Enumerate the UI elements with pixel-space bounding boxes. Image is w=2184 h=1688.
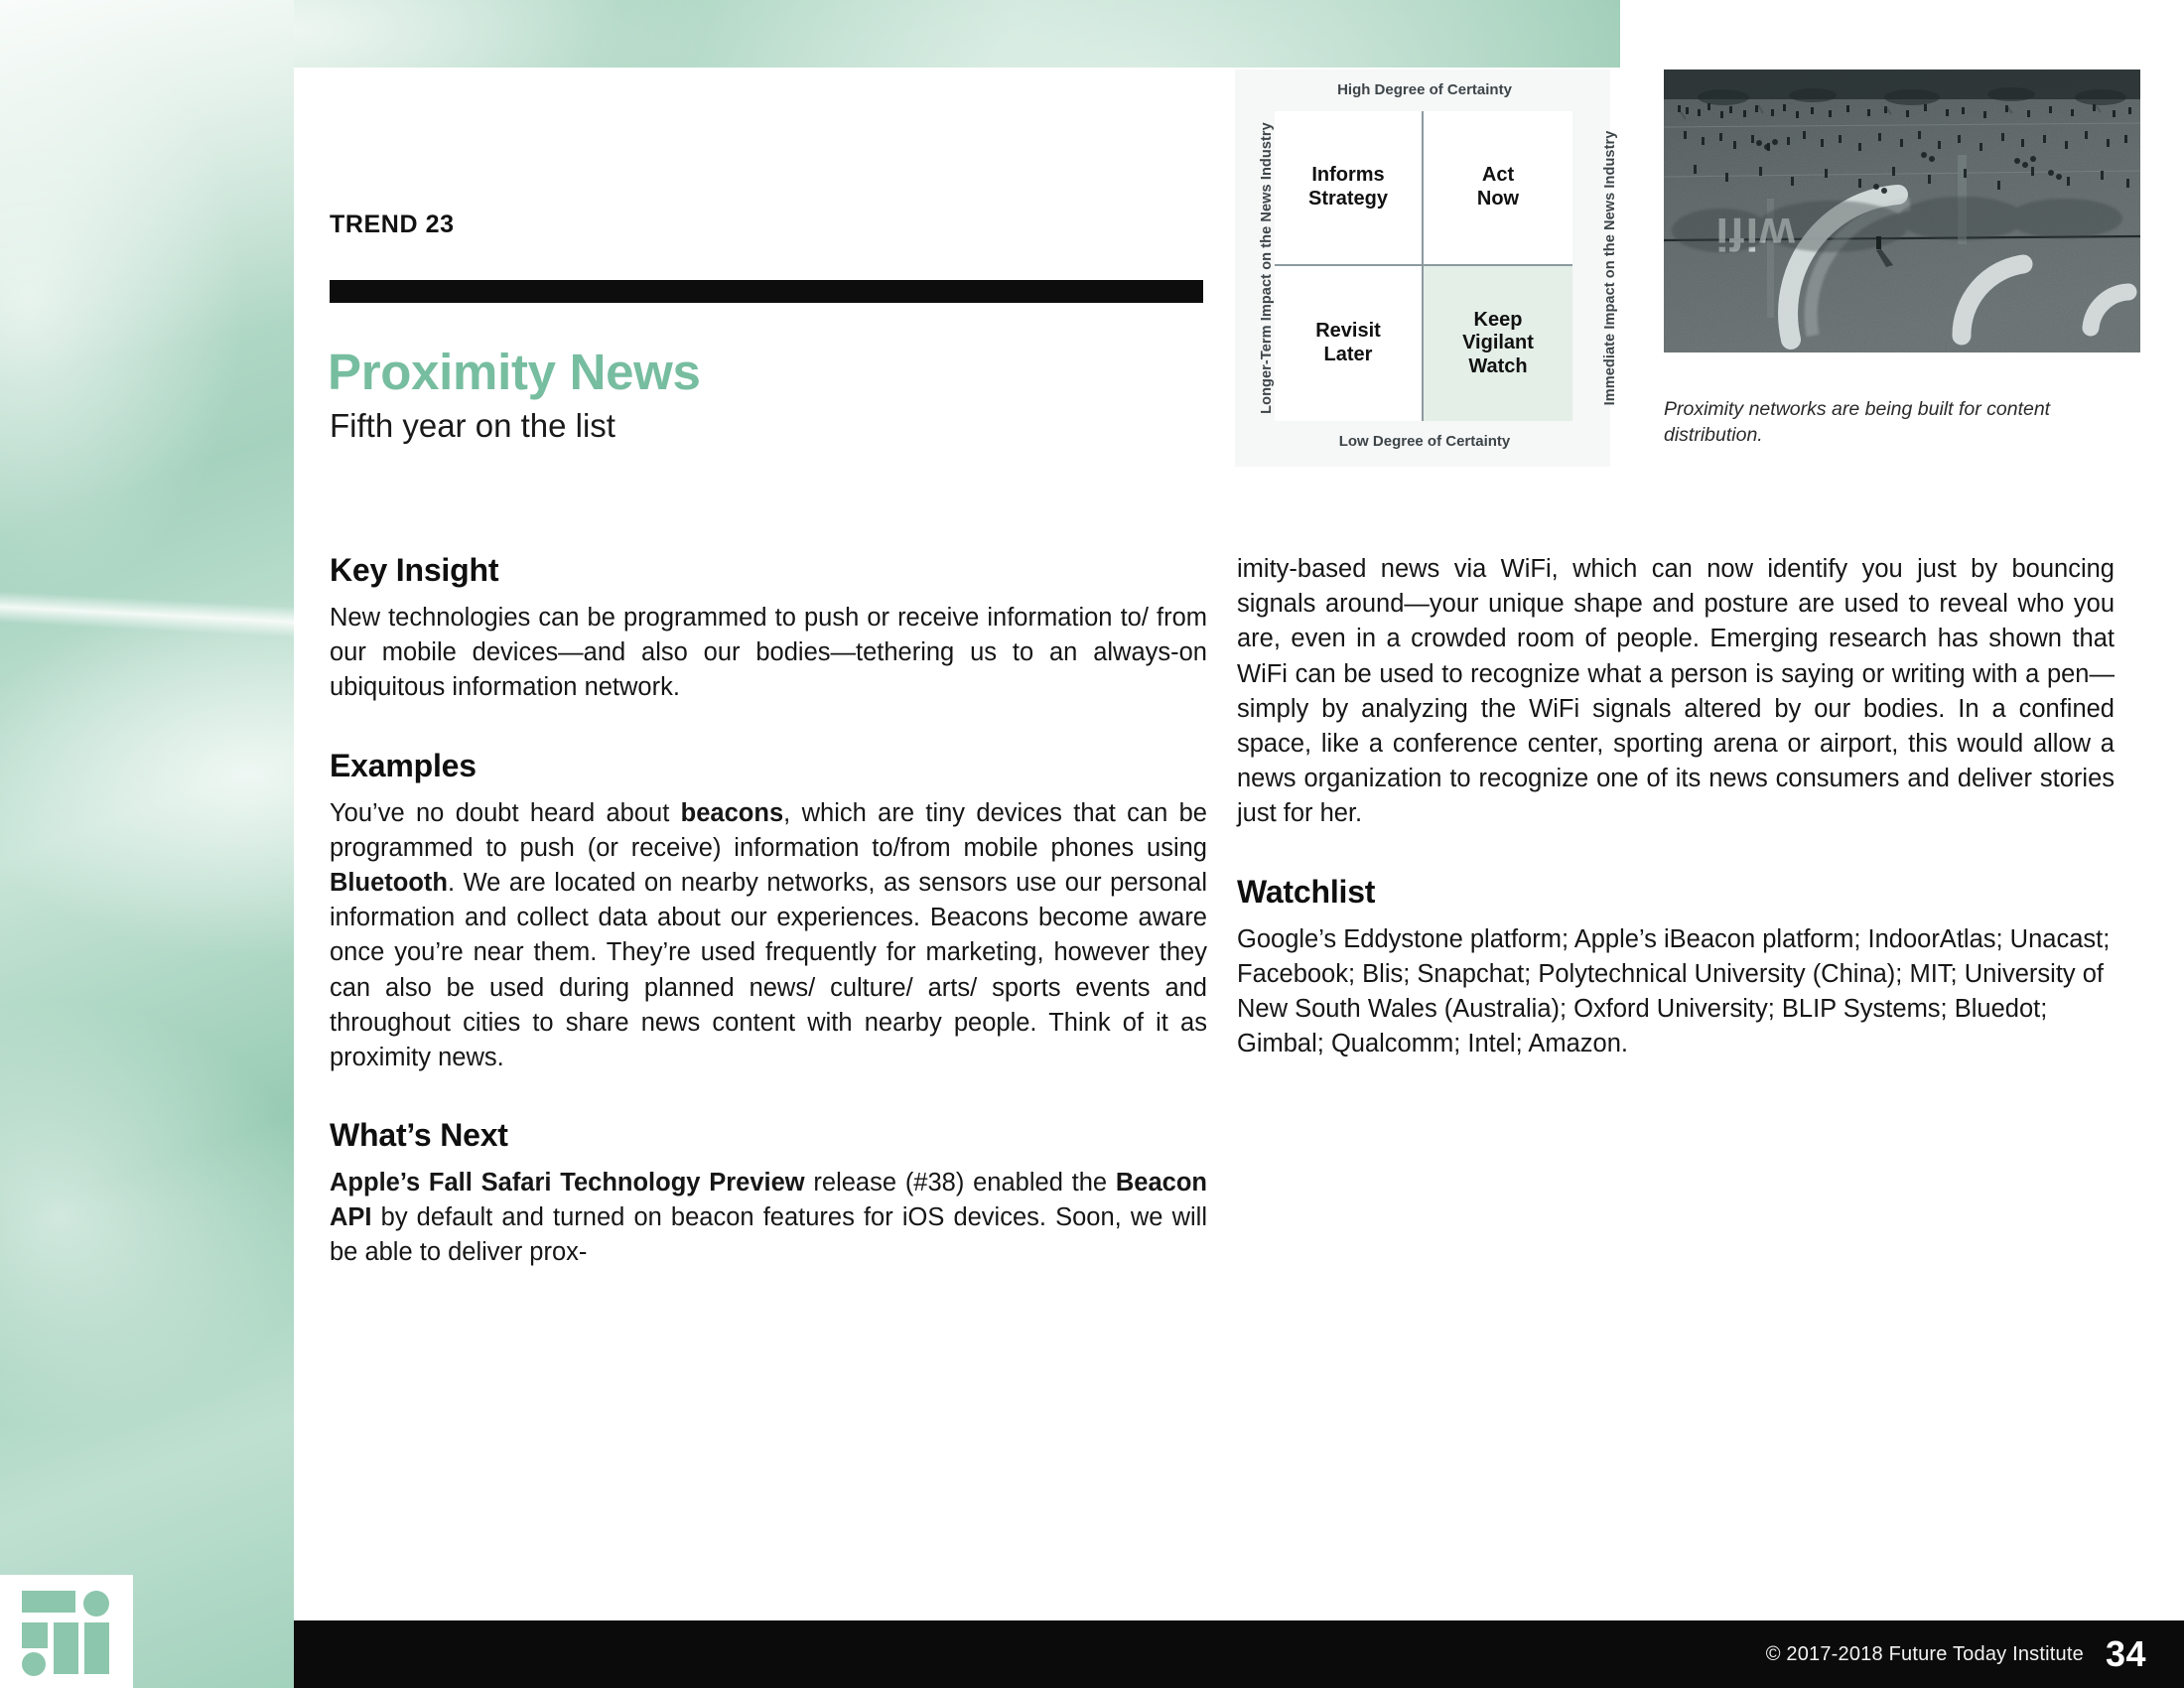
quadrant-line-1: Revisit — [1315, 320, 1381, 342]
whats-next-text-1: release (#38) enabled the — [805, 1169, 1116, 1196]
matrix-axis-top-label: High Degree of Certainty — [1281, 81, 1569, 98]
examples-text-1: You’ve no doubt heard about — [330, 799, 681, 827]
section-heading-examples: Examples — [330, 748, 1207, 784]
quadrant-line-2: Now — [1477, 188, 1519, 210]
trend-label: TREND 23 — [330, 211, 455, 239]
matrix-axis-bottom-label: Low Degree of Certainty — [1281, 433, 1569, 450]
quadrant-line-2: Later — [1324, 344, 1373, 365]
examples-bold-beacons: beacons — [681, 799, 783, 827]
footer-copyright: © 2017-2018 Future Today Institute — [1766, 1643, 2084, 1666]
photo-caption: Proximity networks are being built for c… — [1664, 397, 2146, 448]
fti-logo-tile — [0, 1575, 133, 1688]
matrix-axis-left-label: Longer-Term Impact on the News Industry — [1259, 119, 1275, 417]
fti-logo — [22, 1591, 115, 1674]
matrix-quadrant-keep-vigilant-watch: Keep Vigilant Watch — [1424, 266, 1572, 421]
section-body-examples: You’ve no doubt heard about beacons, whi… — [330, 796, 1207, 1076]
page-title: Proximity News — [328, 343, 701, 401]
page-subtitle: Fifth year on the list — [330, 407, 615, 445]
matrix-axis-right-label: Immediate Impact on the News Industry — [1602, 119, 1618, 417]
wifi-plaza-photo: wifi — [1664, 70, 2140, 352]
quadrant-line-3: Watch — [1468, 355, 1527, 377]
matrix-grid: Informs Strategy Act Now Revisit Later K… — [1275, 111, 1572, 421]
wifi-plaza-photo-graphic: wifi — [1664, 70, 2140, 352]
matrix-quadrant-informs-strategy: Informs Strategy — [1275, 111, 1424, 266]
quadrant-line-1: Keep — [1474, 309, 1523, 331]
examples-bold-bluetooth: Bluetooth — [330, 869, 448, 897]
matrix-quadrant-act-now: Act Now — [1424, 111, 1572, 266]
whats-next-bold-safari: Apple’s Fall Safari Technology Preview — [330, 1169, 805, 1196]
quadrant-line-1: Act — [1482, 164, 1514, 186]
footer-page-number: 34 — [2106, 1633, 2146, 1675]
right-text-column: imity-based news via WiFi, which can now… — [1237, 552, 2115, 1061]
section-body-continuation: imity-based news via WiFi, which can now… — [1237, 552, 2115, 832]
section-heading-whats-next: What’s Next — [330, 1117, 1207, 1154]
whats-next-text-2: by default and turned on beacon features… — [330, 1203, 1207, 1266]
page-footer: © 2017-2018 Future Today Institute 34 — [294, 1620, 2184, 1688]
quadrant-line-2: Vigilant — [1462, 332, 1534, 353]
quadrant-line-2: Strategy — [1308, 188, 1388, 210]
section-heading-watchlist: Watchlist — [1237, 874, 2115, 911]
header-rule — [330, 280, 1203, 303]
section-body-whats-next: Apple’s Fall Safari Technology Preview r… — [330, 1166, 1207, 1271]
matrix-quadrant-revisit-later: Revisit Later — [1275, 266, 1424, 421]
section-heading-key-insight: Key Insight — [330, 552, 1207, 589]
certainty-impact-matrix: High Degree of Certainty Low Degree of C… — [1235, 70, 1610, 467]
background-art-left — [0, 0, 294, 1688]
section-body-watchlist: Google’s Eddystone platform; Apple’s iBe… — [1237, 922, 2115, 1062]
section-body-key-insight: New technologies can be programmed to pu… — [330, 601, 1207, 706]
left-text-column: Key Insight New technologies can be prog… — [330, 552, 1207, 1271]
examples-text-3: . We are located on nearby networks, as … — [330, 869, 1207, 1071]
quadrant-line-1: Informs — [1311, 164, 1384, 186]
